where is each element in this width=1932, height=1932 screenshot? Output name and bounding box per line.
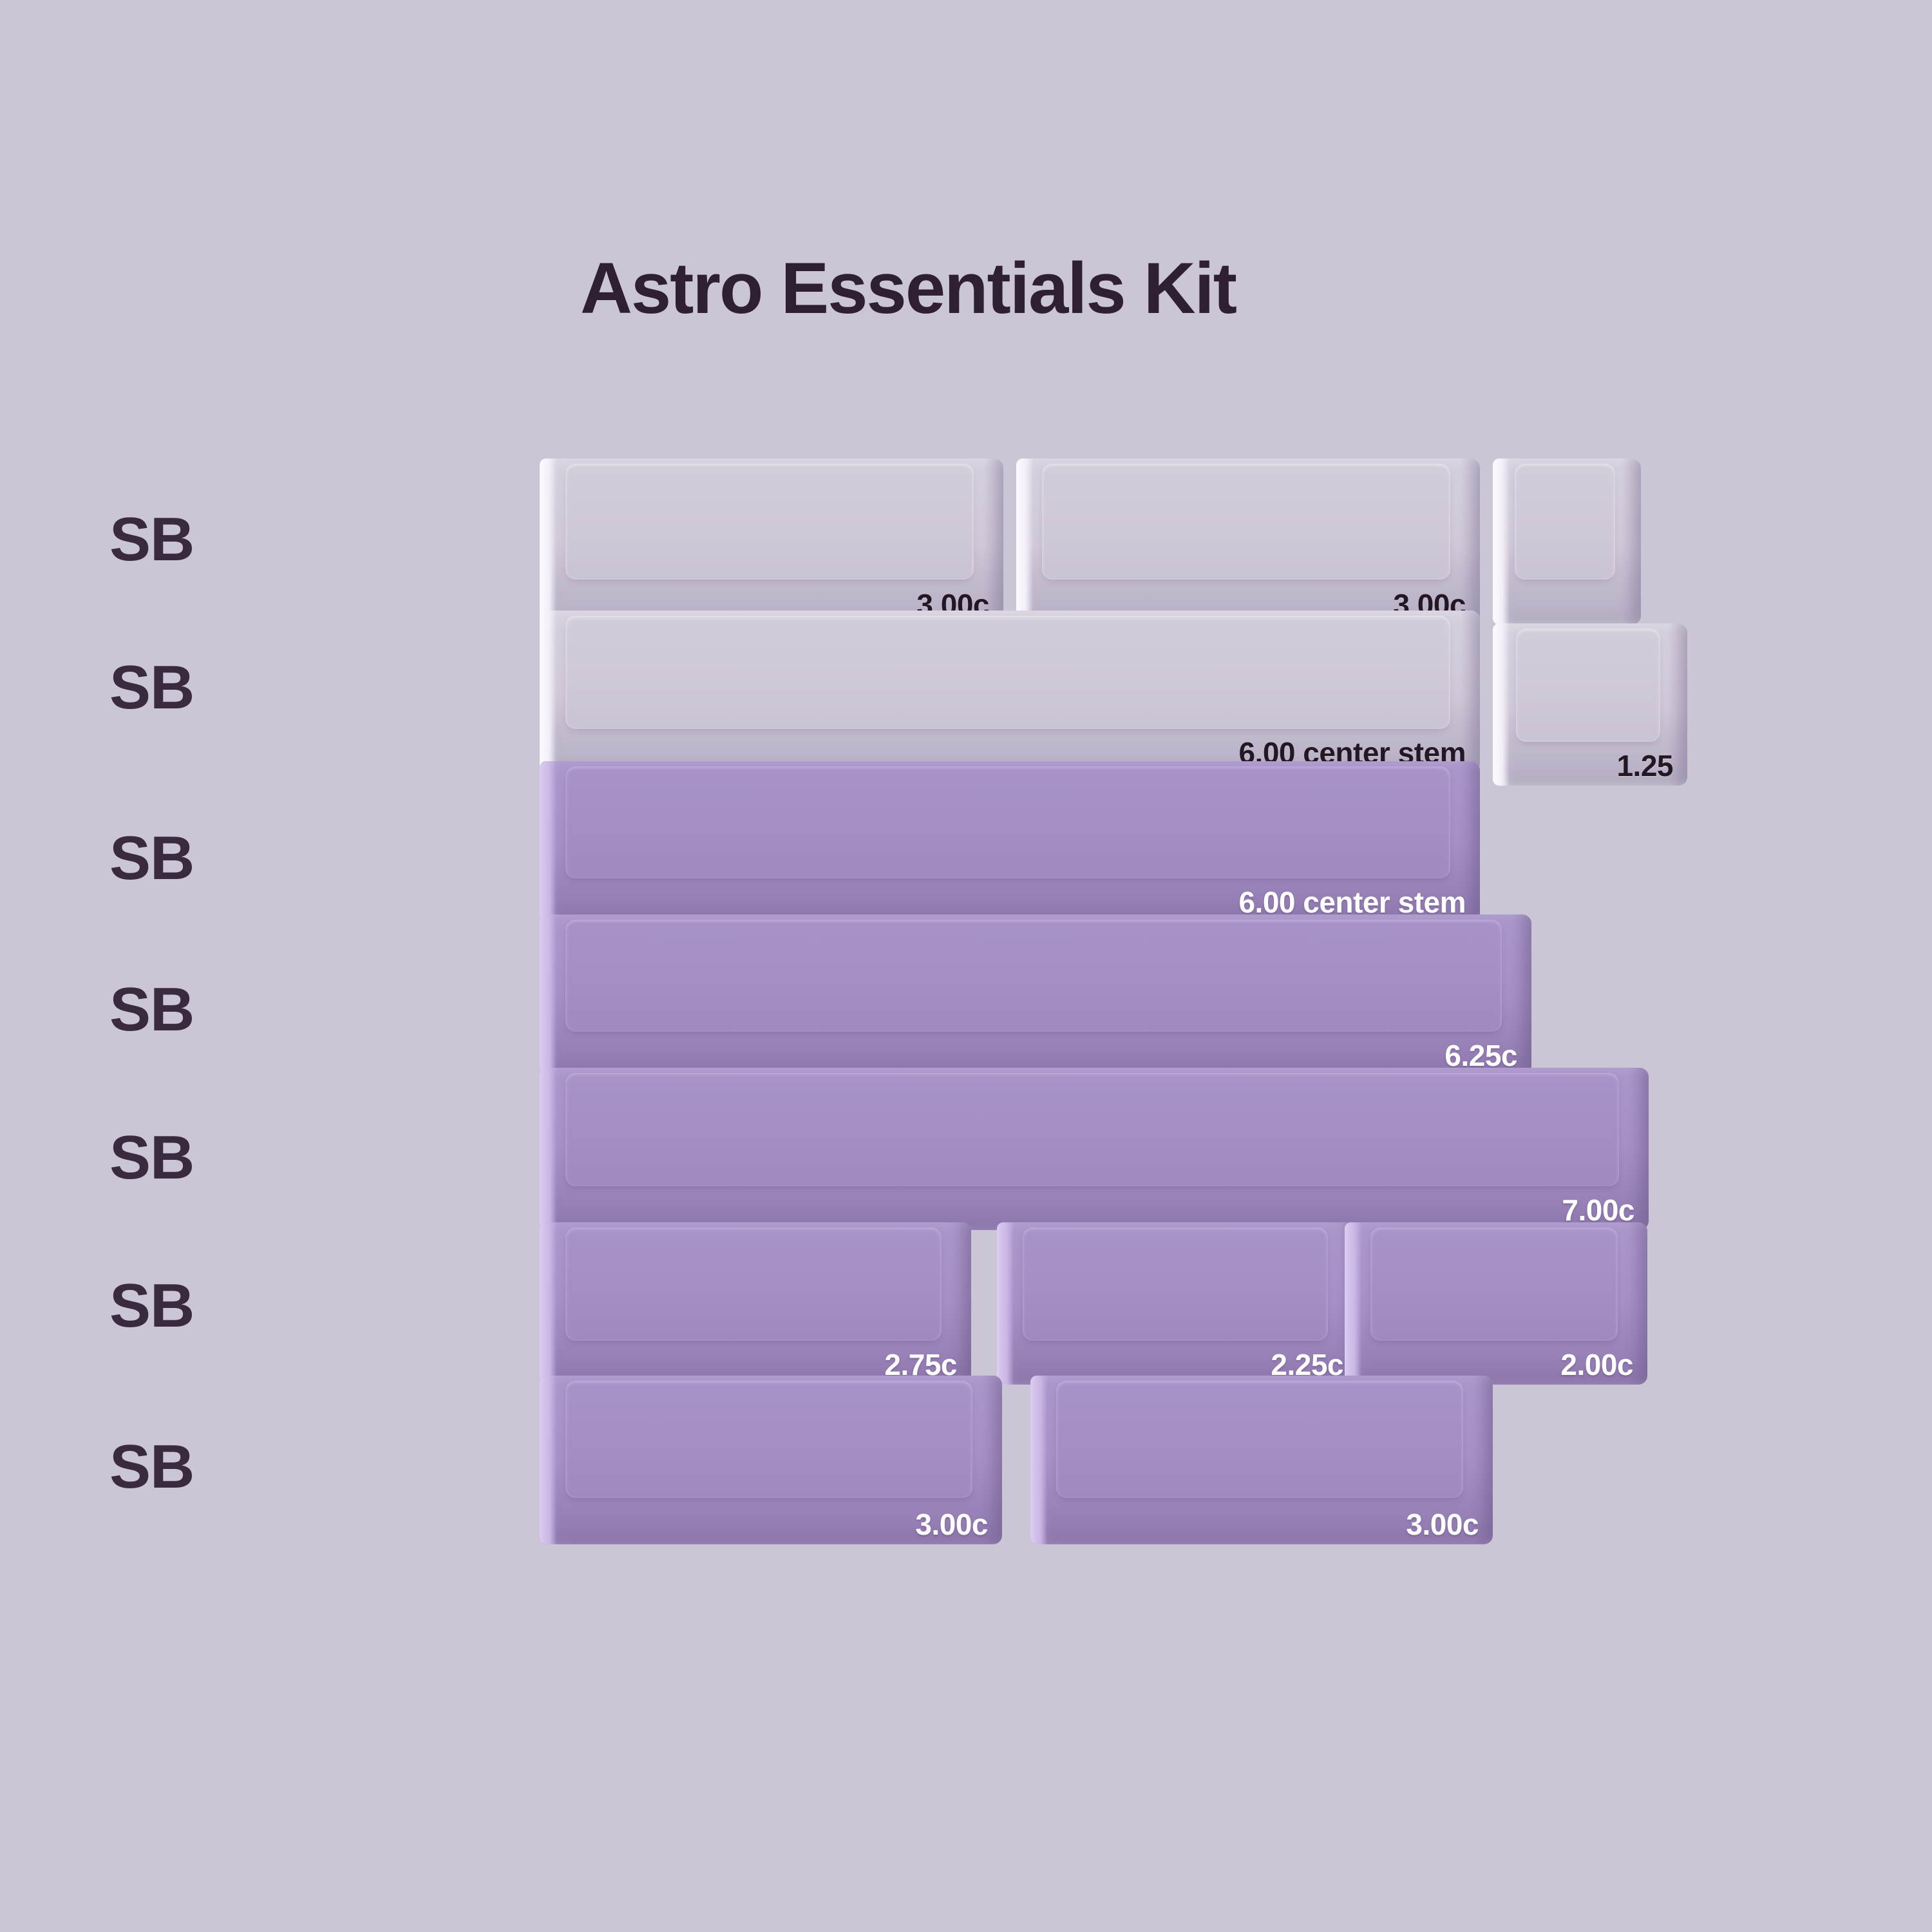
keycap-left-highlight [997,1222,1014,1385]
keycap-size-label: 1.25 [1616,751,1673,781]
keycap-size-label: 3.00c [1406,1510,1479,1539]
row-label-2: SB [109,657,251,719]
keycap-row4-6-25c[interactable]: 6.25c [540,914,1531,1075]
keycap-left-highlight [540,459,556,625]
keycap-row1-3-00c-right[interactable]: 3.00c [1016,459,1480,625]
keycap-left-highlight [1016,459,1033,625]
keycap-row3-6-00-center-stem[interactable]: 6.00 center stem [540,761,1480,922]
keycap-top-surface [1515,464,1615,580]
keycap-top-surface [1370,1227,1618,1341]
keycap-left-highlight [1493,459,1510,625]
keycap-left-highlight [540,611,556,773]
keycap-row5-7-00c[interactable]: 7.00c [540,1068,1649,1230]
row-label-1: SB [109,509,251,571]
row-label-4: SB [109,979,251,1041]
keycap-top-surface [565,1073,1619,1186]
row-label-6: SB [109,1275,251,1337]
keycap-size-label: 7.00c [1562,1195,1634,1225]
keycap-row6-2-00c[interactable]: 2.00c [1345,1222,1647,1385]
keycap-row7-3-00c-right[interactable]: 3.00c [1030,1376,1493,1544]
keycap-row1-1u[interactable] [1493,459,1641,625]
keycap-row6-2-75c[interactable]: 2.75c [540,1222,971,1385]
keycap-size-label: 6.00 center stem [1238,887,1466,917]
keycap-top-surface [565,616,1450,729]
keycap-row2-6-00-center-stem[interactable]: 6.00 center stem [540,611,1480,773]
keycap-right-bevel [1622,459,1641,625]
keycap-top-surface [1516,629,1660,742]
keycap-top-surface [1042,464,1450,580]
keycap-left-highlight [540,761,556,922]
keycap-kit-canvas: Astro Essentials Kit SB SB SB SB SB SB S… [0,0,1932,1932]
keycap-row2-1-25[interactable]: 1.25 [1493,623,1687,786]
keycap-top-surface [1023,1227,1328,1341]
keycap-row6-2-25c[interactable]: 2.25c [997,1222,1358,1385]
keycap-left-highlight [1030,1376,1047,1544]
keycap-top-surface [565,464,974,580]
keycap-top-surface [565,920,1502,1032]
keycap-row1-3-00c-left[interactable]: 3.00c [540,459,1003,625]
keycap-left-highlight [1345,1222,1361,1385]
keycap-size-label: 2.00c [1560,1350,1633,1379]
keycap-left-highlight [540,914,556,1075]
page-title: Astro Essentials Kit [0,252,1874,325]
keycap-left-highlight [540,1376,556,1544]
keycap-size-label: 3.00c [915,1510,988,1539]
keycap-left-highlight [540,1068,556,1230]
keycap-top-surface [565,766,1450,878]
keycap-top-surface [565,1381,972,1498]
row-label-5: SB [109,1127,251,1189]
keycap-row7-3-00c-left[interactable]: 3.00c [540,1376,1002,1544]
keycap-size-label: 6.25c [1444,1041,1517,1070]
row-label-7: SB [109,1436,251,1498]
keycap-left-highlight [540,1222,556,1385]
keycap-top-surface [565,1227,942,1341]
row-label-3: SB [109,828,251,889]
keycap-left-highlight [1493,623,1510,786]
keycap-top-surface [1056,1381,1463,1498]
